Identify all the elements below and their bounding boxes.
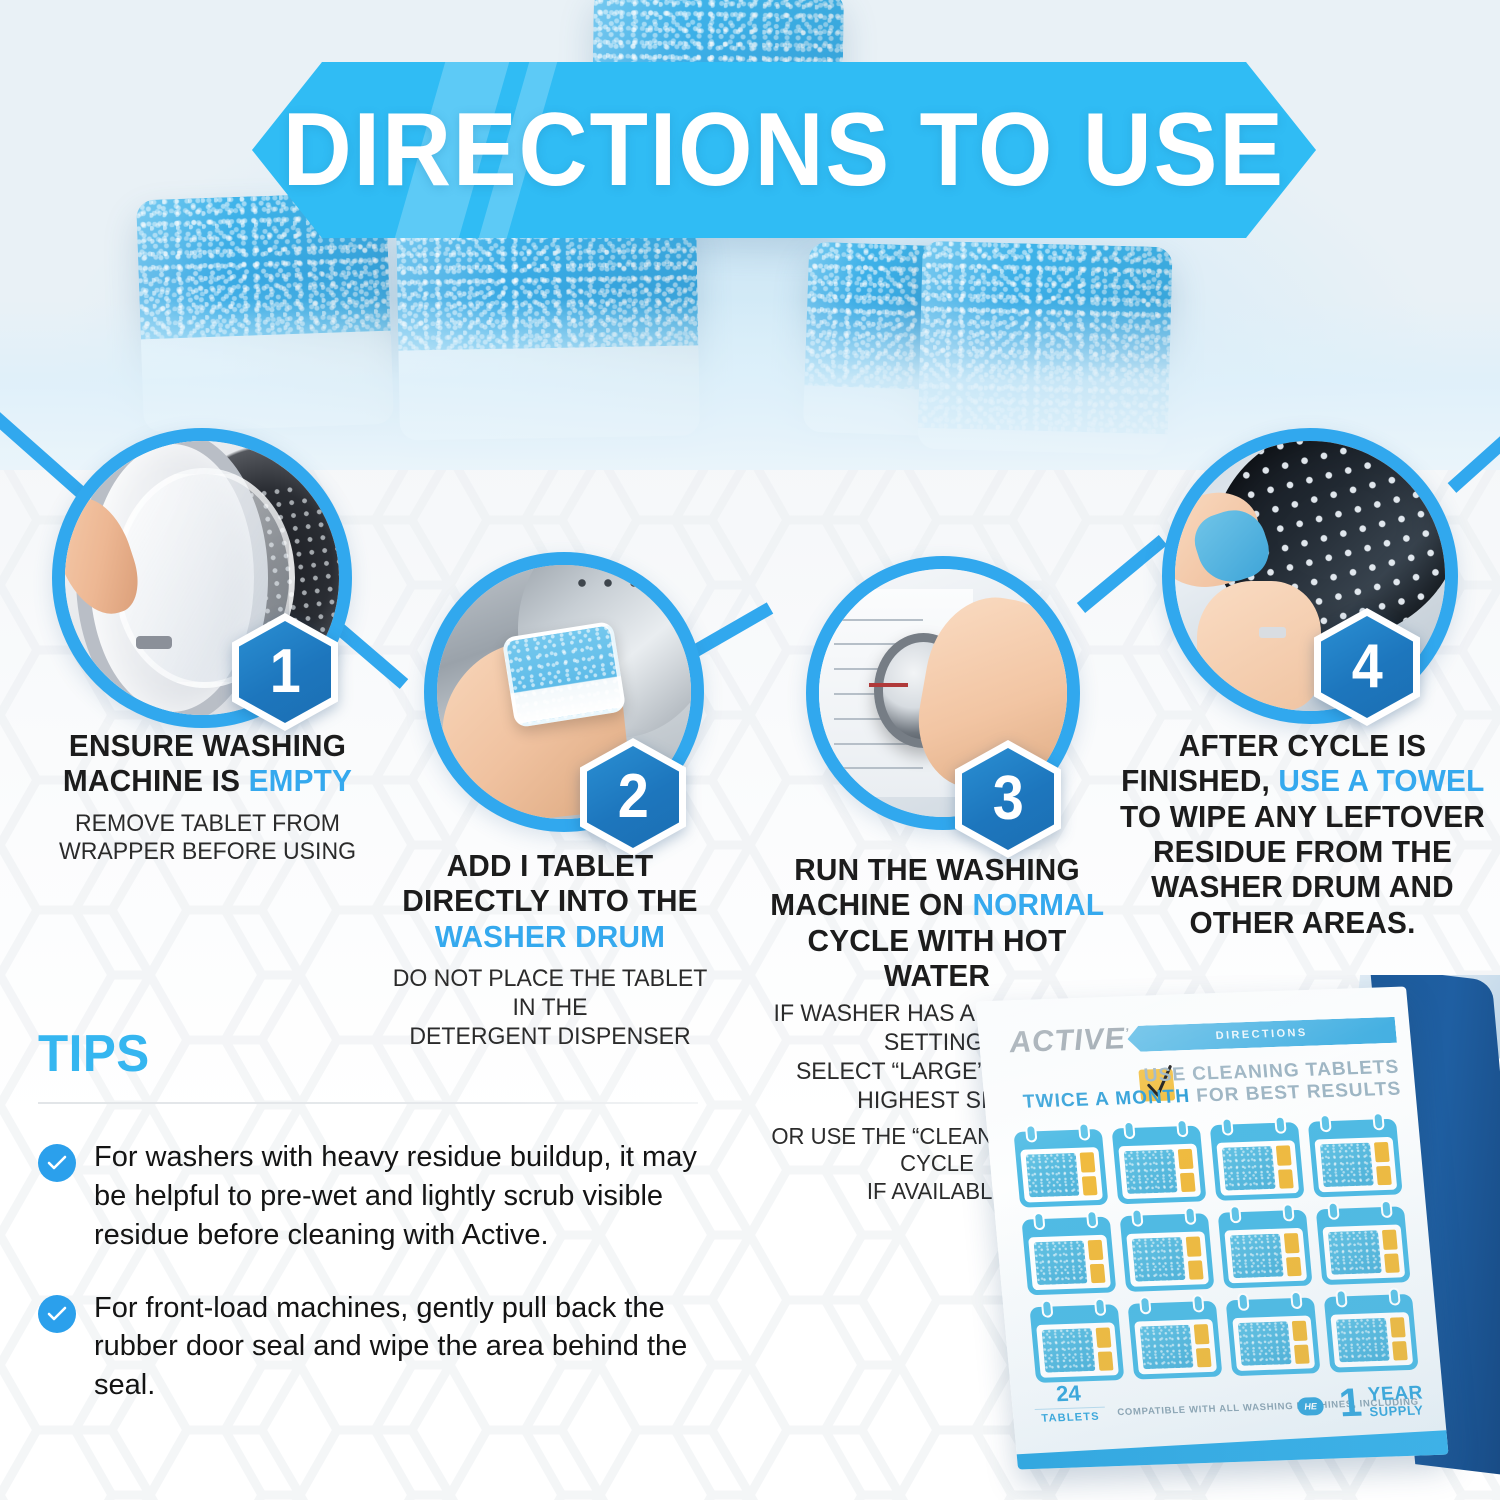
he-logo-icon: HE [1297, 1397, 1325, 1416]
tip-text-1: For washers with heavy residue buildup, … [94, 1138, 698, 1255]
step-4-number: 4 [1351, 636, 1382, 698]
step-2-heading: ADD I TABLET DIRECTLY INTO THE WASHER DR… [382, 848, 718, 954]
calendar-icon [1013, 1129, 1108, 1208]
box-front-face: ACTIVE’ DIRECTIONS USE CLEANING TABLETS … [975, 986, 1448, 1469]
step-1-subtext: REMOVE TABLET FROMWRAPPER BEFORE USING [28, 810, 388, 868]
calendar-icon [1210, 1122, 1305, 1201]
calendar-icon [1120, 1213, 1215, 1292]
step-4-text: AFTER CYCLE IS FINISHED, USE A TOWEL TO … [1110, 728, 1495, 940]
check-circle-icon [38, 1295, 76, 1333]
step-3-number: 3 [992, 768, 1023, 830]
calendar-icon [1316, 1206, 1411, 1285]
step-1-text: ENSURE WASHING MACHINE IS EMPTY REMOVE T… [20, 728, 395, 867]
box-tablet-count: 24 TABLETS [1032, 1382, 1106, 1425]
tips-divider [38, 1102, 698, 1104]
calendar-icon [1324, 1294, 1419, 1373]
step-2-number-badge: 2 [580, 738, 686, 856]
step-1-heading: ENSURE WASHING MACHINE IS EMPTY [28, 728, 388, 799]
calendar-icon [1308, 1119, 1403, 1198]
step-1-number-badge: 1 [232, 613, 338, 731]
check-circle-icon [38, 1144, 76, 1182]
tip-item-2: For front-load machines, gently pull bac… [38, 1289, 698, 1406]
step-2-number: 2 [617, 766, 648, 828]
box-bottom-bar [1011, 1429, 1449, 1470]
infographic-stage: DIRECTIONS TO USE 1 ENSURE WASHING MACHI… [0, 0, 1500, 1500]
tip-text-2: For front-load machines, gently pull bac… [94, 1289, 698, 1406]
product-box-photo: ACTIVE’ DIRECTIONS USE CLEANING TABLETS … [955, 975, 1500, 1500]
calendar-icon [1128, 1301, 1223, 1380]
tips-title: TIPS [38, 1028, 665, 1080]
box-directions-banner: DIRECTIONS [1126, 1017, 1397, 1052]
calendar-icon [1021, 1217, 1116, 1296]
calendar-icon [1218, 1210, 1313, 1289]
box-brand-logo: ACTIVE’ [1008, 1022, 1132, 1060]
step-3-number-badge: 3 [955, 740, 1061, 858]
step-2-text: ADD I TABLET DIRECTLY INTO THE WASHER DR… [375, 848, 725, 1051]
box-calendar-grid [1013, 1119, 1418, 1383]
tips-section: TIPS For washers with heavy residue buil… [38, 1028, 698, 1405]
step-1-number: 1 [269, 641, 300, 703]
calendar-icon [1112, 1126, 1207, 1205]
step-3-heading: RUN THE WASHING MACHINE ON NORMAL CYCLE … [759, 852, 1114, 993]
calendar-icon [1029, 1304, 1124, 1383]
box-supply-callout: 1 YEAR SUPPLY [1338, 1384, 1425, 1421]
calendar-icon [1226, 1297, 1321, 1376]
tip-item-1: For washers with heavy residue buildup, … [38, 1138, 698, 1255]
step-4-number-badge: 4 [1314, 608, 1420, 726]
step-4-heading: AFTER CYCLE IS FINISHED, USE A TOWEL TO … [1118, 728, 1488, 940]
